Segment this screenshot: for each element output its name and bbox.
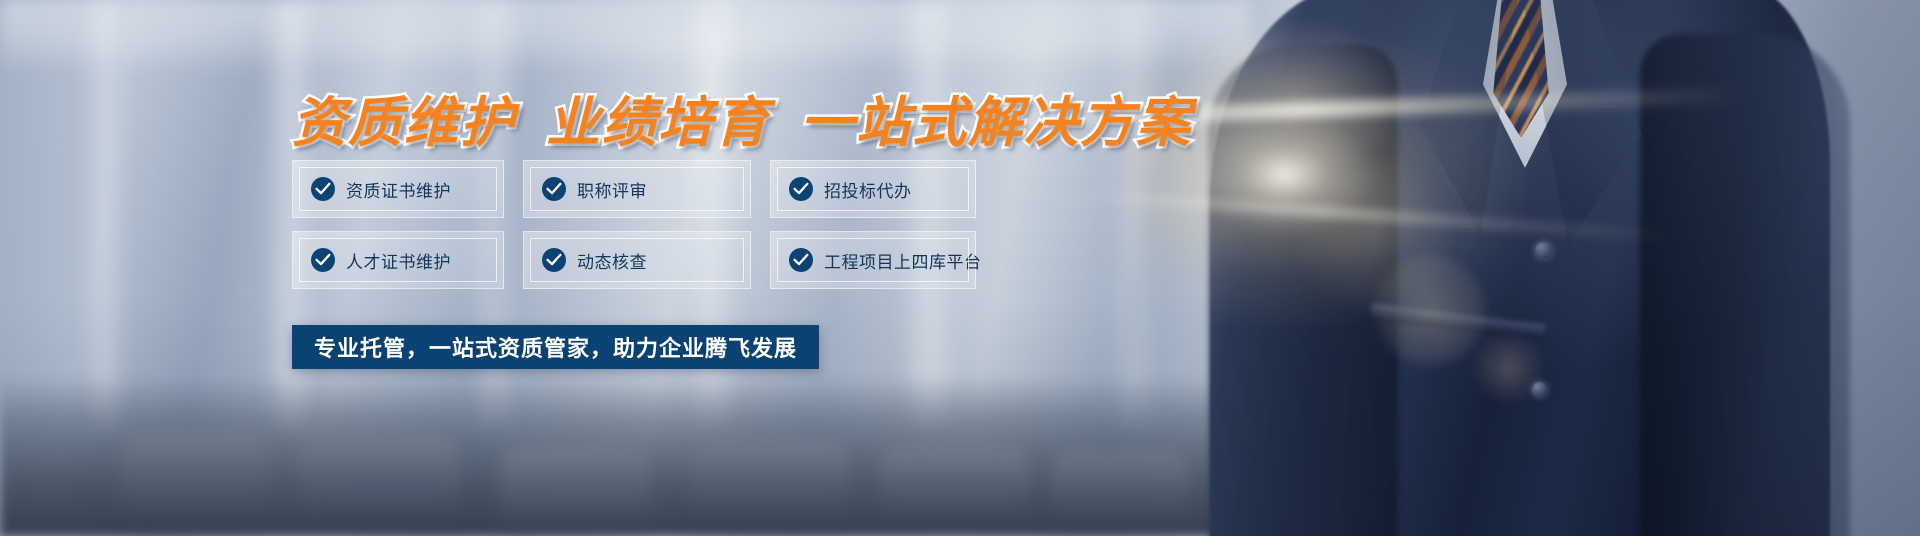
headline-segment-3: 一站式解决方案 [800,91,1192,154]
businessman-photo [1080,0,1920,536]
feature-card-label: 人才证书维护 [346,248,451,273]
check-circle-icon [542,248,566,272]
feature-card-label: 招投标代办 [824,177,912,202]
suit-button [1532,382,1547,397]
check-circle-icon [311,177,335,201]
feature-card-title-evaluation[interactable]: 职称评审 [523,160,751,218]
check-circle-icon [789,177,813,201]
headline-segment-2: 业绩培育 [546,91,770,154]
headline: 资质维护业绩培育一站式解决方案 [292,78,1072,157]
feature-card-label: 动态核查 [577,248,647,273]
check-circle-icon [311,248,335,272]
feature-card-talent-certificate-maintenance[interactable]: 人才证书维护 [292,231,504,289]
headline-segment-1: 资质维护 [292,91,516,154]
background-chair [120,430,270,530]
feature-card-bidding-agency[interactable]: 招投标代办 [770,160,976,218]
feature-card-label: 资质证书维护 [346,177,451,202]
suit-button [1535,242,1552,259]
check-circle-icon [542,177,566,201]
feature-card-qualification-certificate-maintenance[interactable]: 资质证书维护 [292,160,504,218]
feature-card-label: 工程项目上四库平台 [824,248,982,273]
hero-banner: 资质维护业绩培育一站式解决方案 资质证书维护 职称评审 [0,0,1920,536]
check-circle-icon [789,248,813,272]
suit-left-sleeve [1208,44,1398,536]
feature-card-label: 职称评审 [577,177,647,202]
tagline-bar: 专业托管，一站式资质管家，助力企业腾飞发展 [292,325,819,369]
feature-card-grid: 资质证书维护 职称评审 招投标代办 [292,160,976,289]
feature-card-dynamic-inspection[interactable]: 动态核查 [523,231,751,289]
feature-card-project-four-database-platform[interactable]: 工程项目上四库平台 [770,231,976,289]
banner-content: 资质维护业绩培育一站式解决方案 资质证书维护 职称评审 [292,0,1072,536]
suit-right-sleeve [1640,34,1850,536]
